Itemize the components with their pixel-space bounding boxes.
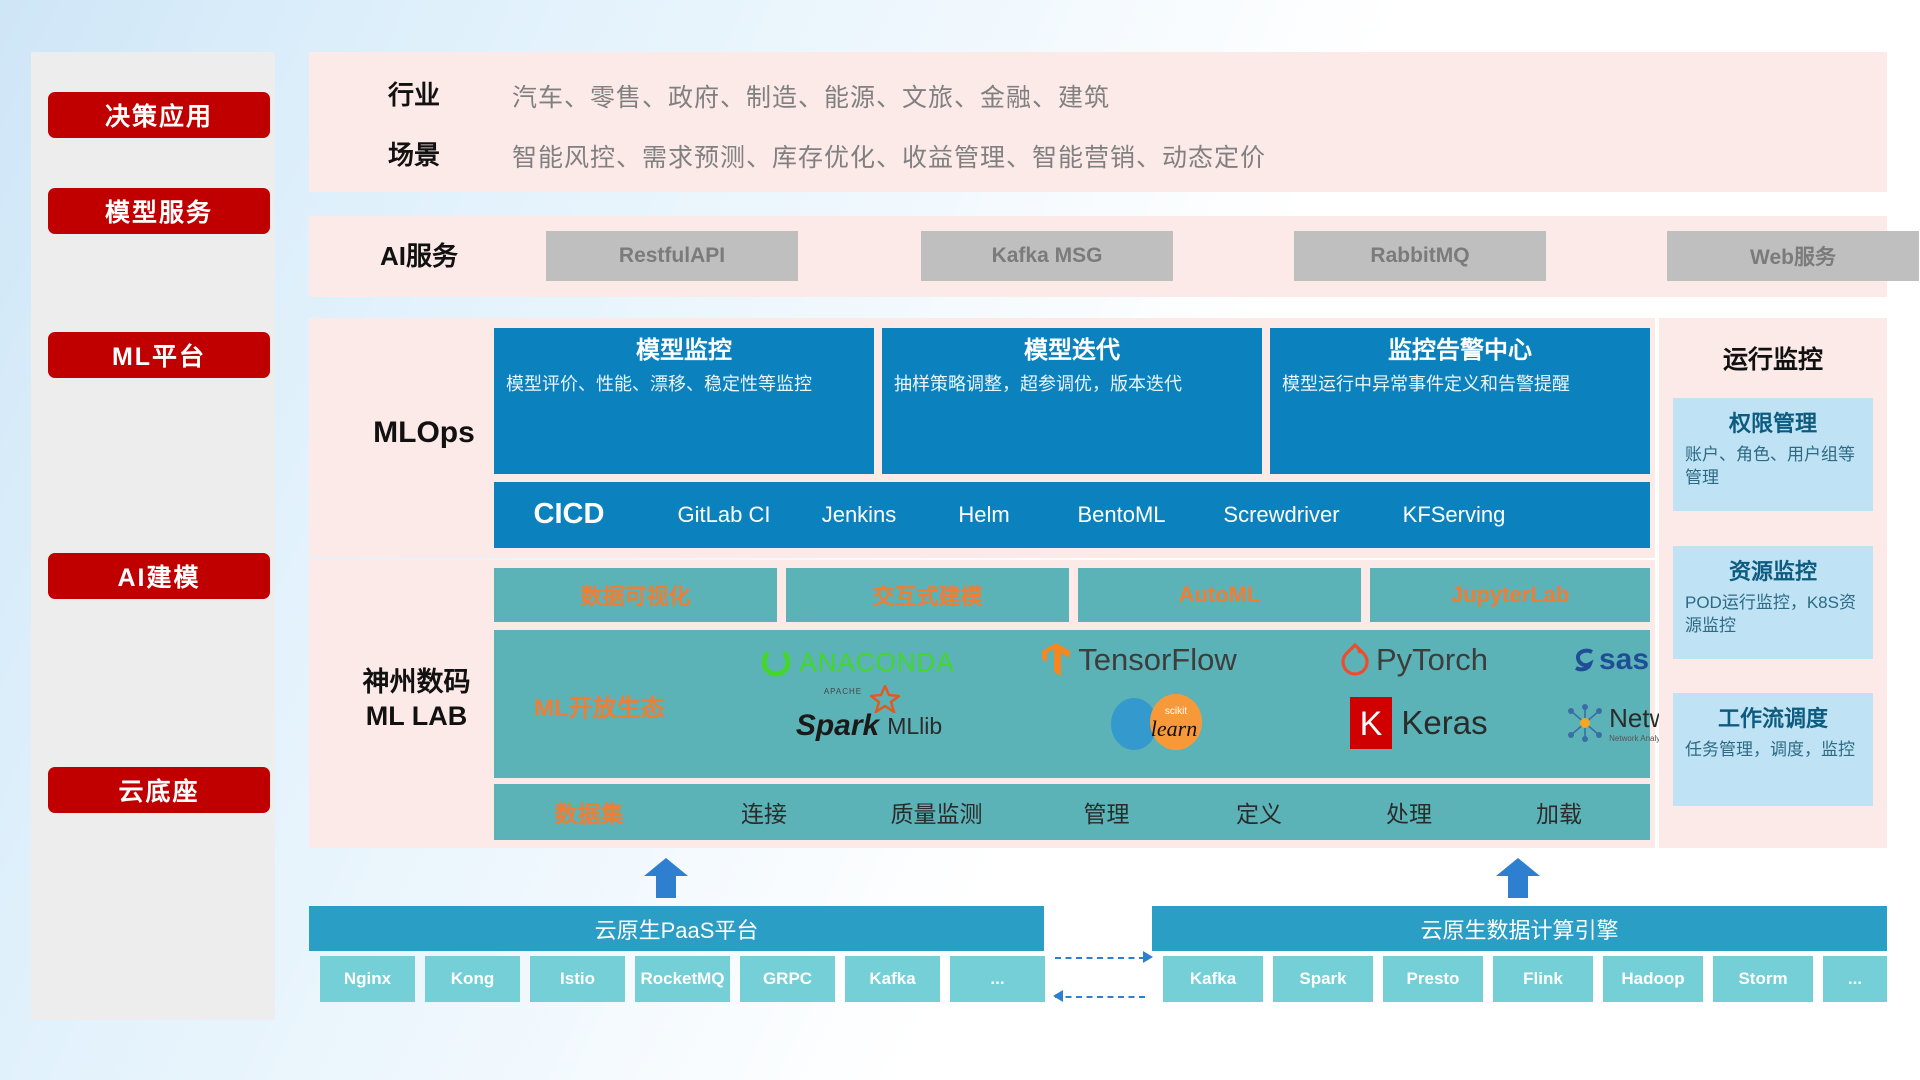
tensorflow-icon xyxy=(1041,642,1071,678)
scikit-learn-logo: scikit learn xyxy=(1054,692,1284,754)
dataset-item-connect[interactable]: 连接 xyxy=(684,795,844,829)
sidebar-item-ai-modeling[interactable]: AI建模 xyxy=(48,553,270,599)
ml-lab-label-line2: ML LAB xyxy=(366,700,468,734)
ml-lab-label: 神州数码 ML LAB xyxy=(329,665,504,735)
engine-chip-presto[interactable]: Presto xyxy=(1383,956,1483,1002)
right-monitoring-panel: 运行监控 权限管理 账户、角色、用户组等管理 资源监控 POD运行监控，K8S资… xyxy=(1659,318,1887,848)
connector-right-arrow-line xyxy=(1055,957,1145,959)
right-panel-title: 运行监控 xyxy=(1659,340,1887,376)
cicd-item-helm[interactable]: Helm xyxy=(914,482,1054,527)
pytorch-logo: PyTorch xyxy=(1294,632,1534,688)
sas-icon xyxy=(1569,645,1599,675)
right-card-permission-management[interactable]: 权限管理 账户、角色、用户组等管理 xyxy=(1673,398,1873,511)
paas-chip-more[interactable]: ... xyxy=(950,956,1045,1002)
spark-star-icon xyxy=(870,685,900,713)
cicd-item-jenkins[interactable]: Jenkins xyxy=(804,482,914,527)
service-chip-web-service[interactable]: Web服务 xyxy=(1667,231,1919,281)
engine-chip-hadoop[interactable]: Hadoop xyxy=(1603,956,1703,1002)
cloud-paas-bar[interactable]: 云原生PaaS平台 xyxy=(309,906,1044,951)
sidebar-item-decision-app[interactable]: 决策应用 xyxy=(48,92,270,138)
ml-ecosystem-panel: ML开放生态 ANACONDA TensorFlow xyxy=(494,630,1650,778)
mllab-chip-data-visualization[interactable]: 数据可视化 xyxy=(494,568,777,622)
ai-service-label: AI服务 xyxy=(349,233,489,279)
card-title: 模型迭代 xyxy=(882,328,1262,366)
right-card-resource-monitoring[interactable]: 资源监控 POD运行监控，K8S资源监控 xyxy=(1673,546,1873,659)
engine-chip-kafka[interactable]: Kafka xyxy=(1163,956,1263,1002)
card-desc: 抽样策略调整，超参调优，版本迭代 xyxy=(882,366,1262,396)
mllab-chip-interactive-modeling[interactable]: 交互式建模 xyxy=(786,568,1069,622)
sidebar-item-ml-platform[interactable]: ML平台 xyxy=(48,332,270,378)
dataset-item-define[interactable]: 定义 xyxy=(1184,795,1334,829)
cicd-item-kfserving[interactable]: KFServing xyxy=(1374,482,1534,527)
service-chip-restfulapi[interactable]: RestfulAPI xyxy=(546,231,798,281)
cicd-item-gitlab-ci[interactable]: GitLab CI xyxy=(644,482,804,527)
engine-chip-storm[interactable]: Storm xyxy=(1713,956,1813,1002)
cloud-data-engine-bar[interactable]: 云原生数据计算引擎 xyxy=(1152,906,1887,951)
arrow-up-right xyxy=(1496,858,1540,898)
ml-ecosystem-label: ML开放生态 xyxy=(534,688,665,723)
tensorflow-logo-text: TensorFlow xyxy=(1078,642,1237,678)
dataset-label: 数据集 xyxy=(494,795,684,829)
architecture-diagram: 决策应用 模型服务 ML平台 AI建模 云底座 行业 汽车、零售、政府、制造、能… xyxy=(0,0,1920,1080)
keras-logo-text: Keras xyxy=(1401,704,1487,742)
apache-label: APACHE xyxy=(824,687,862,696)
mllib-logo-text: MLlib xyxy=(887,713,942,740)
cicd-bar: CICD GitLab CI Jenkins Helm BentoML Scre… xyxy=(494,482,1650,548)
engine-chip-flink[interactable]: Flink xyxy=(1493,956,1593,1002)
spark-mllib-logo: APACHE Spark MLlib xyxy=(724,696,1014,756)
paas-chip-istio[interactable]: Istio xyxy=(530,956,625,1002)
industry-row-value: 汽车、零售、政府、制造、能源、文旅、金融、建筑 xyxy=(512,78,1110,114)
dataset-item-process[interactable]: 处理 xyxy=(1334,795,1484,829)
ml-lab-band: 神州数码 ML LAB 数据可视化 交互式建模 AutoML JupyterLa… xyxy=(309,560,1655,848)
scenario-row-label: 场景 xyxy=(349,132,479,178)
sidebar-item-cloud-foundation[interactable]: 云底座 xyxy=(48,767,270,813)
dataset-item-quality[interactable]: 质量监测 xyxy=(844,795,1029,829)
mlops-card-model-monitoring[interactable]: 模型监控 模型评价、性能、漂移、稳定性等监控 xyxy=(494,328,874,474)
mllab-chip-automl[interactable]: AutoML xyxy=(1078,568,1361,622)
card-desc: 账户、角色、用户组等管理 xyxy=(1673,438,1873,490)
cicd-label: CICD xyxy=(494,482,644,531)
mlops-card-model-iteration[interactable]: 模型迭代 抽样策略调整，超参调优，版本迭代 xyxy=(882,328,1262,474)
arrow-up-left xyxy=(644,858,688,898)
scikit-learn-icon: scikit learn xyxy=(1104,694,1234,752)
card-title: 资源监控 xyxy=(1673,546,1873,586)
engine-chip-spark[interactable]: Spark xyxy=(1273,956,1373,1002)
card-title: 监控告警中心 xyxy=(1270,328,1650,366)
card-desc: 模型运行中异常事件定义和告警提醒 xyxy=(1270,366,1650,396)
dataset-item-load[interactable]: 加载 xyxy=(1484,795,1634,829)
card-title: 工作流调度 xyxy=(1673,693,1873,733)
right-card-workflow-scheduling[interactable]: 工作流调度 任务管理，调度，监控 xyxy=(1673,693,1873,806)
pytorch-logo-text: PyTorch xyxy=(1376,642,1488,678)
ml-lab-label-line1: 神州数码 xyxy=(363,666,471,700)
service-chip-kafka-msg[interactable]: Kafka MSG xyxy=(921,231,1173,281)
paas-chip-grpc[interactable]: GRPC xyxy=(740,956,835,1002)
scenario-row-value: 智能风控、需求预测、库存优化、收益管理、智能营销、动态定价 xyxy=(512,138,1266,174)
svg-text:learn: learn xyxy=(1151,716,1197,741)
service-chip-rabbitmq[interactable]: RabbitMQ xyxy=(1294,231,1546,281)
pytorch-icon xyxy=(1340,643,1370,677)
service-layer-band: AI服务 RestfulAPI Kafka MSG RabbitMQ Web服务 xyxy=(309,216,1887,297)
connector-left-arrow-head xyxy=(1053,990,1063,1002)
mlops-label: MLOps xyxy=(349,408,499,458)
tensorflow-logo: TensorFlow xyxy=(994,632,1284,688)
card-title: 模型监控 xyxy=(494,328,874,366)
anaconda-logo-text: ANACONDA xyxy=(799,647,954,678)
mlops-card-alert-center[interactable]: 监控告警中心 模型运行中异常事件定义和告警提醒 xyxy=(1270,328,1650,474)
keras-icon: K xyxy=(1350,697,1392,749)
anaconda-icon xyxy=(759,645,793,679)
paas-chip-kafka[interactable]: Kafka xyxy=(845,956,940,1002)
application-layer-band: 行业 汽车、零售、政府、制造、能源、文旅、金融、建筑 场景 智能风控、需求预测、… xyxy=(309,52,1887,192)
card-desc: POD运行监控，K8S资源监控 xyxy=(1673,586,1873,638)
keras-logo: K Keras xyxy=(1294,692,1544,754)
paas-chip-nginx[interactable]: Nginx xyxy=(320,956,415,1002)
cicd-item-screwdriver[interactable]: Screwdriver xyxy=(1189,482,1374,527)
mllab-chip-jupyterlab[interactable]: JupyterLab xyxy=(1370,568,1650,622)
svg-text:K: K xyxy=(1360,705,1383,743)
engine-chip-more[interactable]: ... xyxy=(1823,956,1887,1002)
dataset-row: 数据集 连接 质量监测 管理 定义 处理 加载 xyxy=(494,784,1650,840)
connector-left-arrow-line xyxy=(1055,996,1145,998)
dataset-item-manage[interactable]: 管理 xyxy=(1029,795,1184,829)
sidebar-item-model-service[interactable]: 模型服务 xyxy=(48,188,270,234)
card-title: 权限管理 xyxy=(1673,398,1873,438)
sas-logo-text: sas xyxy=(1599,643,1649,677)
paas-chip-rocketmq[interactable]: RocketMQ xyxy=(635,956,730,1002)
cicd-item-bentoml[interactable]: BentoML xyxy=(1054,482,1189,527)
card-desc: 任务管理，调度，监控 xyxy=(1673,733,1873,762)
paas-chip-kong[interactable]: Kong xyxy=(425,956,520,1002)
spark-logo-text: Spark xyxy=(796,709,879,742)
mlops-band: MLOps 模型监控 模型评价、性能、漂移、稳定性等监控 模型迭代 抽样策略调整… xyxy=(309,318,1655,558)
card-desc: 模型评价、性能、漂移、稳定性等监控 xyxy=(494,366,874,396)
connector-right-arrow-head xyxy=(1143,951,1153,963)
networkx-icon xyxy=(1566,704,1604,742)
anaconda-logo: ANACONDA xyxy=(727,636,987,688)
industry-row-label: 行业 xyxy=(349,72,479,118)
